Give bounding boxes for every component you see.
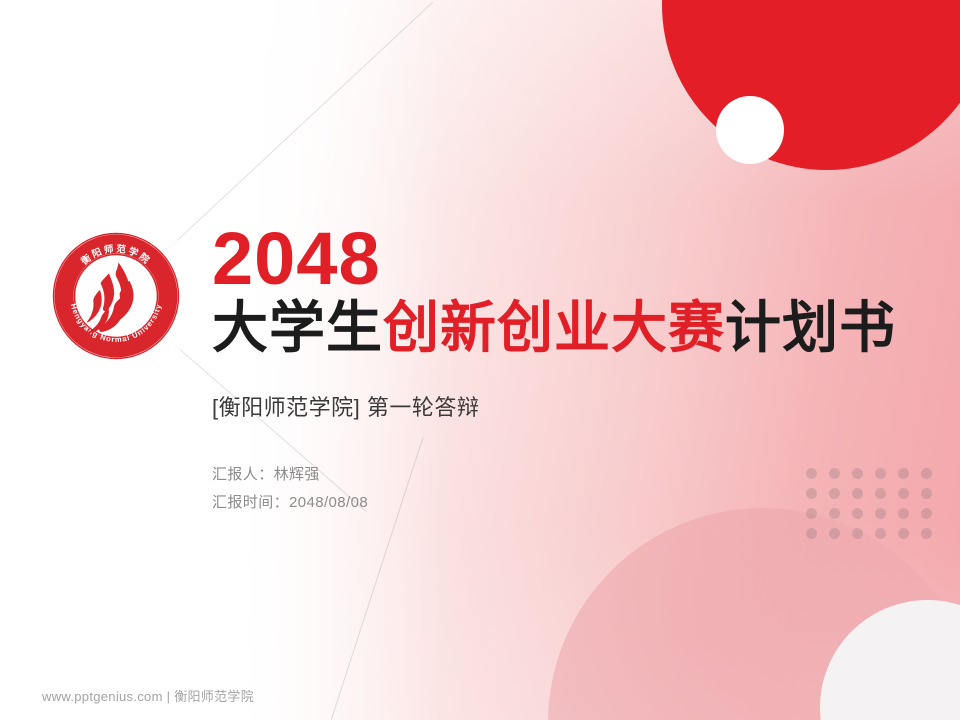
headline-segment-2: 创新创业大赛 (383, 296, 725, 359)
presentation-meta: 汇报人：林辉强 汇报时间：2048/08/08 (212, 461, 932, 517)
dot (852, 528, 863, 539)
dot (806, 528, 817, 539)
page-title: 大学生创新创业大赛计划书 (212, 298, 932, 358)
university-logo: 衡阳师范学院 Hengyang Normal University (52, 232, 180, 360)
headline-segment-1: 大学生 (212, 296, 383, 359)
title-block: 2048 大学生创新创业大赛计划书 [衡阳师范学院] 第一轮答辩 汇报人：林辉强… (212, 222, 932, 517)
footer-credit: www.pptgenius.com | 衡阳师范学院 (42, 686, 254, 705)
headline-segment-3: 计划书 (725, 296, 896, 359)
dot (829, 528, 840, 539)
decor-circle-white-accent (716, 96, 784, 164)
year-number: 2048 (212, 222, 932, 296)
meta-presenter: 汇报人：林辉强 (212, 461, 932, 489)
dot (898, 528, 909, 539)
dot (921, 528, 932, 539)
meta-date: 汇报时间：2048/08/08 (212, 489, 932, 517)
dot (875, 528, 886, 539)
subtitle: [衡阳师范学院] 第一轮答辩 (212, 394, 932, 423)
presentation-slide: 衡阳师范学院 Hengyang Normal University 2048 大… (0, 0, 960, 720)
